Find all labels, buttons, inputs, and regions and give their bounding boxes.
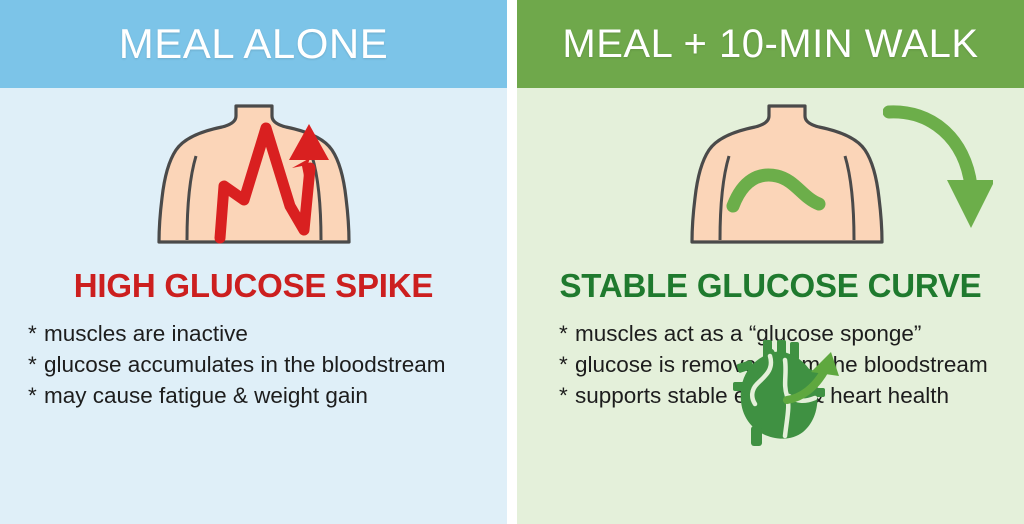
panel-meal-alone: MEAL ALONE HIGH GLUCOSE SPIKE	[0, 0, 507, 524]
list-item-label: may cause fatigue & weight gain	[44, 383, 368, 408]
illustration-meal-plus-walk	[517, 88, 1024, 260]
bullet-list-meal-alone: *muscles are inactive *glucose accumulat…	[0, 318, 507, 411]
panel-header-meal-alone: MEAL ALONE	[0, 0, 507, 88]
list-item-label: muscles are inactive	[44, 321, 248, 346]
bullet-marker-icon: *	[559, 318, 575, 349]
torso-red-spike-icon	[152, 102, 356, 248]
bullet-marker-icon: *	[559, 380, 575, 411]
list-item: *may cause fatigue & weight gain	[28, 380, 507, 411]
bullet-marker-icon: *	[28, 380, 44, 411]
torso-green-curve-icon	[685, 102, 889, 248]
panel-meal-plus-walk: MEAL + 10-MIN WALK STABLE GLU	[517, 0, 1024, 524]
bullet-marker-icon: *	[28, 349, 44, 380]
illustration-meal-alone	[0, 88, 507, 260]
panel-header-meal-plus-walk: MEAL + 10-MIN WALK	[517, 0, 1024, 88]
bullet-marker-icon: *	[559, 349, 575, 380]
headline-high-glucose-spike: HIGH GLUCOSE SPIKE	[0, 267, 507, 305]
panel-divider	[507, 0, 517, 524]
list-item: *glucose accumulates in the bloodstream	[28, 349, 507, 380]
bullet-marker-icon: *	[28, 318, 44, 349]
list-item: *muscles are inactive	[28, 318, 507, 349]
glucose-comparison-infographic: MEAL ALONE HIGH GLUCOSE SPIKE	[0, 0, 1024, 524]
headline-stable-glucose-curve: STABLE GLUCOSE CURVE	[517, 267, 1024, 305]
list-item-label: glucose accumulates in the bloodstream	[44, 352, 445, 377]
heart-with-up-arrow-icon	[729, 340, 847, 455]
curved-down-arrow-icon	[883, 104, 993, 234]
